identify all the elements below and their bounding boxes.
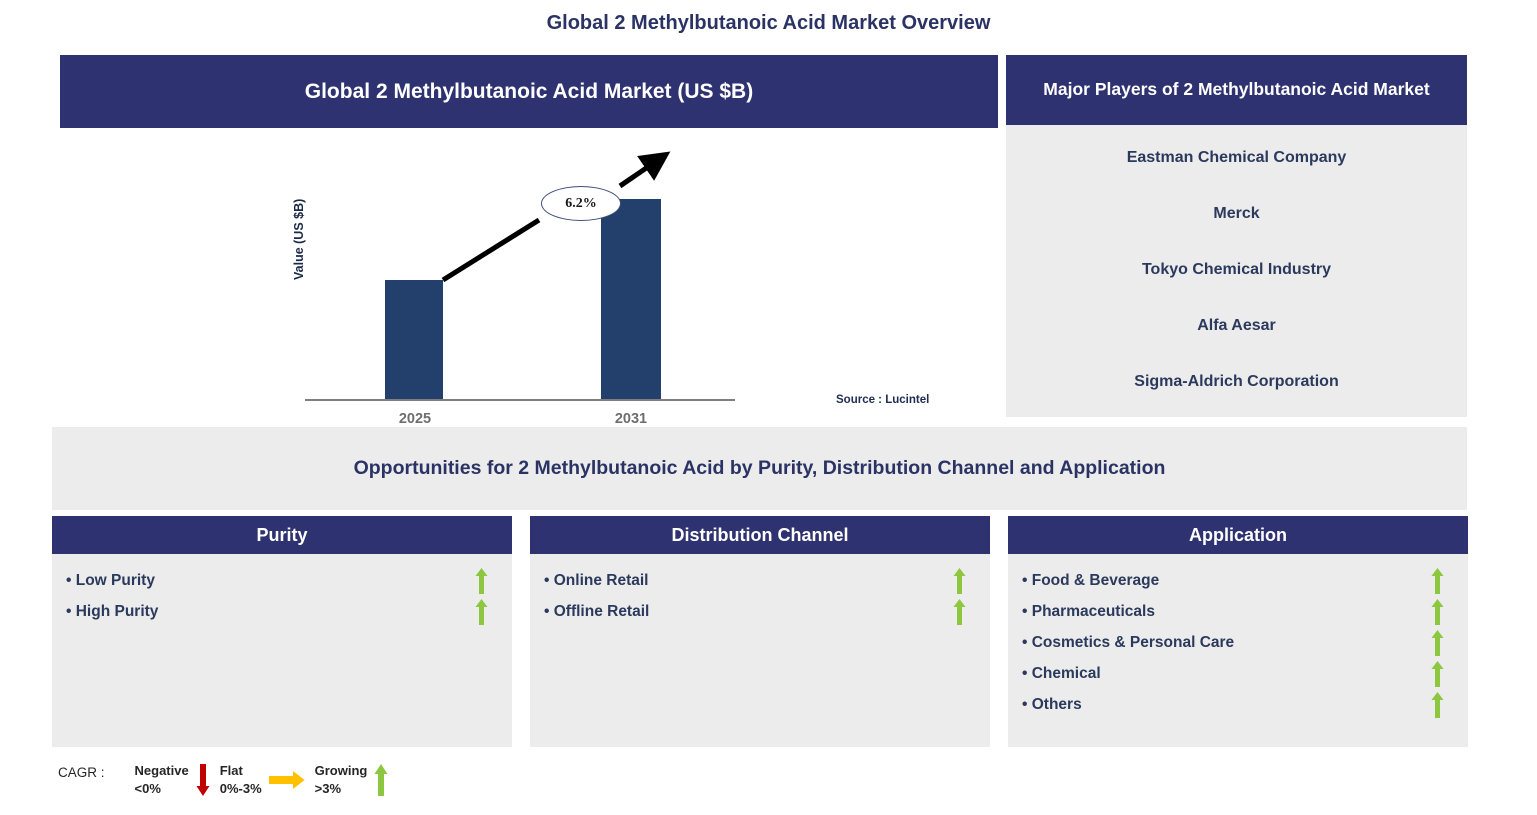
major-players-list: Eastman Chemical Company Merck Tokyo Che… [1006, 125, 1467, 391]
list-item: • Online Retail [530, 565, 990, 596]
list-item: • Others [1008, 689, 1468, 720]
segment-item-label: • Food & Beverage [1022, 572, 1431, 590]
cagr-legend-growing-range: >3% [315, 780, 368, 798]
cagr-legend-growing-name: Growing [315, 763, 368, 778]
opportunities-banner: Opportunities for 2 Methylbutanoic Acid … [52, 427, 1467, 510]
segment-item-label: • Cosmetics & Personal Care [1022, 634, 1431, 652]
segment-distribution-channel: Distribution Channel • Online Retail • O… [530, 516, 990, 747]
arrow-up-green-icon [1431, 692, 1444, 718]
segment-purity: Purity • Low Purity • High Purity [52, 516, 512, 747]
cagr-legend-title: CAGR : [58, 762, 105, 780]
growth-arrow-icon [60, 128, 998, 417]
segment-item-label: • High Purity [66, 603, 475, 621]
list-item: Merck [1006, 205, 1467, 223]
cagr-legend-item-flat: Flat 0%-3% [220, 762, 305, 797]
list-item: Eastman Chemical Company [1006, 149, 1467, 167]
cagr-legend-item-negative: Negative <0% [135, 762, 210, 797]
arrow-up-green-icon [1431, 661, 1444, 687]
list-item: Sigma-Aldrich Corporation [1006, 373, 1467, 391]
segment-purity-list: • Low Purity • High Purity [52, 554, 512, 627]
list-item: • Chemical [1008, 658, 1468, 689]
cagr-legend-negative-range: <0% [135, 780, 189, 798]
arrow-down-red-icon [196, 764, 210, 796]
chart-x-axis-line [305, 399, 735, 401]
list-item: • Pharmaceuticals [1008, 596, 1468, 627]
major-players-header: Major Players of 2 Methylbutanoic Acid M… [1006, 55, 1467, 125]
segment-item-label: • Low Purity [66, 572, 475, 590]
bar-2025 [385, 280, 443, 399]
chart-y-axis-label: Value (US $B) [292, 199, 306, 280]
arrow-up-green-icon [475, 599, 488, 625]
cagr-legend-negative-name: Negative [135, 763, 189, 778]
segment-distribution-channel-header: Distribution Channel [530, 516, 990, 554]
segment-item-label: • Online Retail [544, 572, 953, 590]
chart-source-note: Source : Lucintel [836, 394, 929, 406]
cagr-legend: CAGR : Negative <0% Flat 0%-3% Growing >… [58, 762, 398, 797]
segment-application-list: • Food & Beverage • Pharmaceuticals • Co… [1008, 554, 1468, 720]
page-title: Global 2 Methylbutanoic Acid Market Over… [0, 12, 1537, 35]
arrow-right-orange-icon [269, 770, 305, 790]
arrow-up-green-icon [1431, 599, 1444, 625]
segment-item-label: • Pharmaceuticals [1022, 603, 1431, 621]
cagr-legend-flat-range: 0%-3% [220, 780, 262, 798]
segment-application-header: Application [1008, 516, 1468, 554]
list-item: • Low Purity [52, 565, 512, 596]
cagr-legend-flat-name: Flat [220, 763, 243, 778]
segment-application: Application • Food & Beverage • Pharmace… [1008, 516, 1468, 747]
list-item: • Food & Beverage [1008, 565, 1468, 596]
list-item: Alfa Aesar [1006, 317, 1467, 335]
bar-2031 [601, 199, 661, 399]
market-chart-body: Value (US $B) 2025 2031 6.2% [60, 128, 998, 417]
x-tick-label-2031: 2031 [576, 411, 686, 427]
list-item: • Cosmetics & Personal Care [1008, 627, 1468, 658]
cagr-legend-item-growing: Growing >3% [315, 762, 389, 797]
market-chart-panel: Global 2 Methylbutanoic Acid Market (US … [60, 55, 998, 417]
opportunities-banner-text: Opportunities for 2 Methylbutanoic Acid … [354, 457, 1166, 480]
segment-item-label: • Others [1022, 696, 1431, 714]
arrow-up-green-icon [1431, 630, 1444, 656]
x-tick-label-2025: 2025 [360, 411, 470, 427]
major-players-panel: Major Players of 2 Methylbutanoic Acid M… [1006, 55, 1467, 417]
segment-purity-header: Purity [52, 516, 512, 554]
segment-item-label: • Offline Retail [544, 603, 953, 621]
segment-distribution-channel-list: • Online Retail • Offline Retail [530, 554, 990, 627]
arrow-up-green-icon [1431, 568, 1444, 594]
market-chart-header: Global 2 Methylbutanoic Acid Market (US … [60, 55, 998, 128]
segment-item-label: • Chemical [1022, 665, 1431, 683]
list-item: • High Purity [52, 596, 512, 627]
arrow-up-green-icon [374, 764, 388, 796]
list-item: • Offline Retail [530, 596, 990, 627]
arrow-up-green-icon [475, 568, 488, 594]
cagr-bubble: 6.2% [541, 186, 621, 221]
list-item: Tokyo Chemical Industry [1006, 261, 1467, 279]
arrow-up-green-icon [953, 599, 966, 625]
arrow-up-green-icon [953, 568, 966, 594]
